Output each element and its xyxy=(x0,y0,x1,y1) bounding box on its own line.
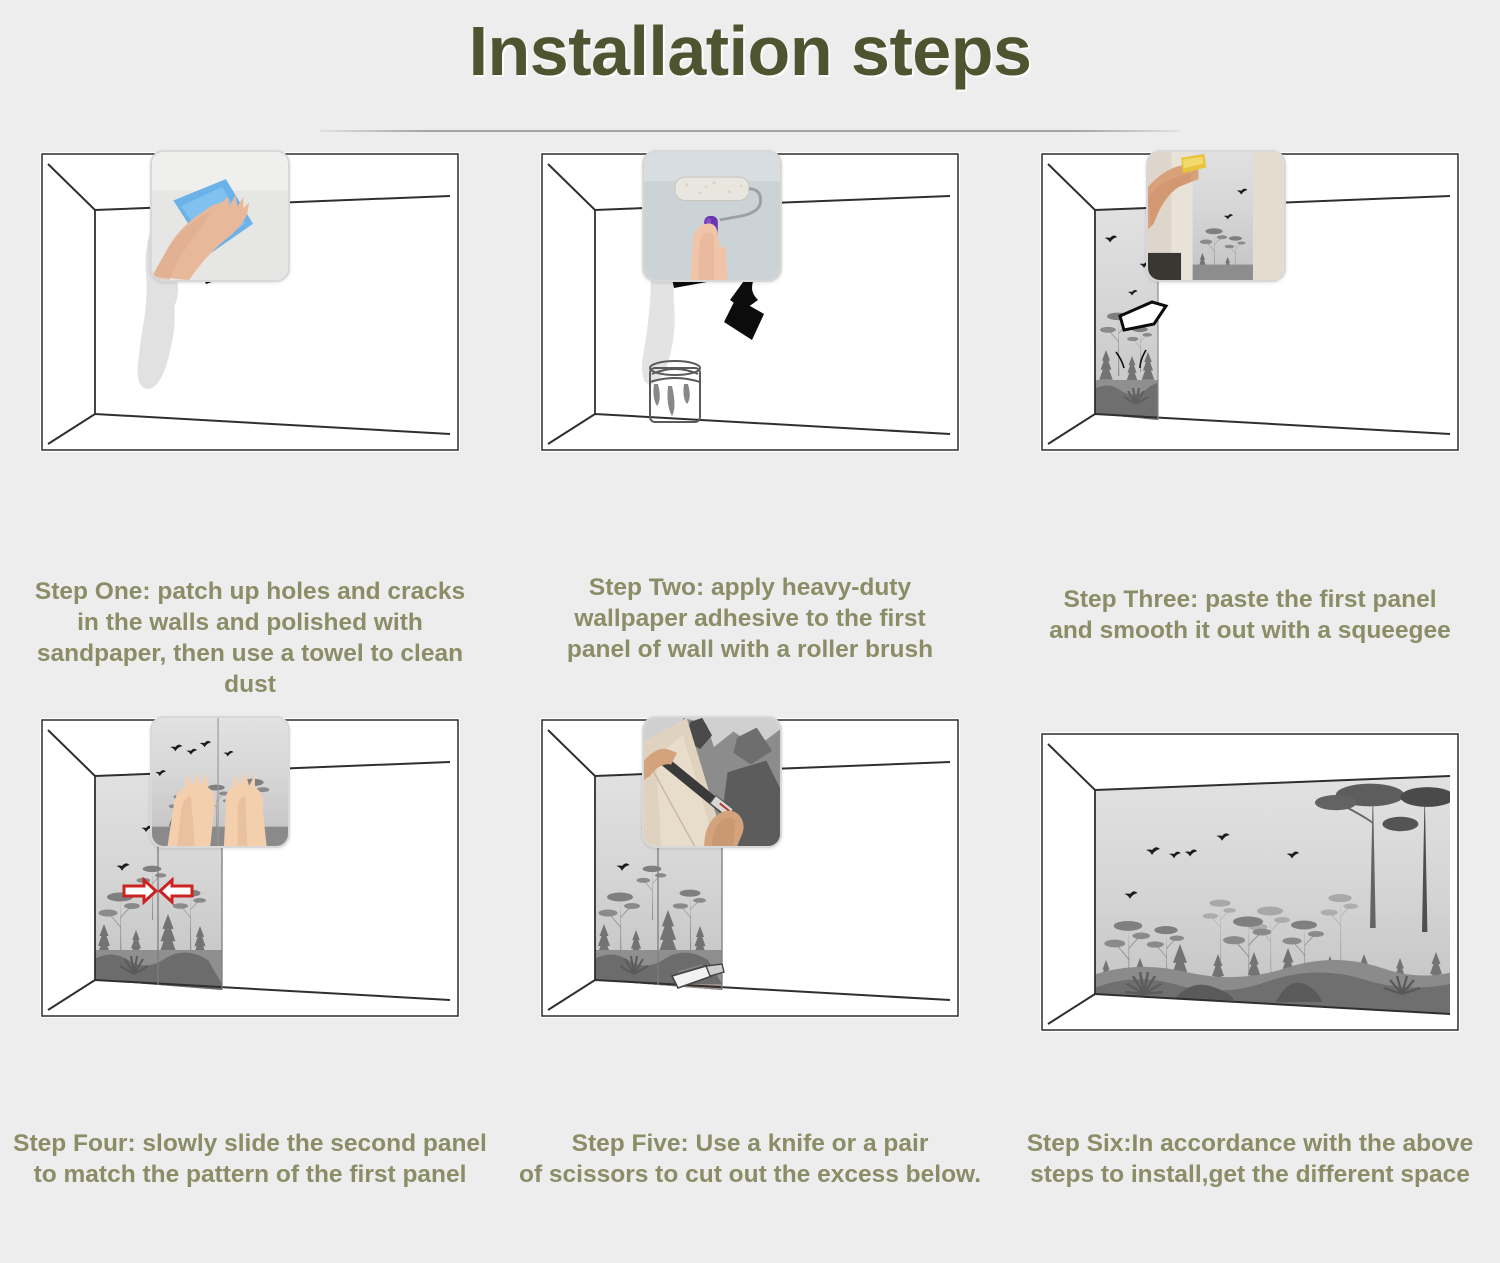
photo-paint-roller xyxy=(642,150,782,282)
caption-step-five: Step Five: Use a knife or a pair of scis… xyxy=(500,1128,1000,1190)
steps-grid: Step One: patch up holes and cracks in t… xyxy=(0,152,1500,1258)
step-card-two: Step Two: apply heavy-duty wallpaper adh… xyxy=(500,152,1000,718)
caption-step-six: Step Six:In accordance with the above st… xyxy=(1000,1128,1500,1190)
caption-line: panel of wall with a roller brush xyxy=(512,634,988,665)
step-card-three: Step Three: paste the first panel and sm… xyxy=(1000,152,1500,718)
caption-line: Step Two: apply heavy-duty xyxy=(512,572,988,603)
caption-line: Step Five: Use a knife or a pair xyxy=(512,1128,988,1159)
caption-step-one: Step One: patch up holes and cracks in t… xyxy=(0,576,500,700)
caption-line: of scissors to cut out the excess below. xyxy=(512,1159,988,1190)
step-card-four: Step Four: slowly slide the second panel… xyxy=(0,718,500,1258)
poster-header: Installation steps xyxy=(0,0,1500,132)
caption-line: wallpaper adhesive to the first xyxy=(512,603,988,634)
caption-line: Step Three: paste the first panel xyxy=(1012,584,1488,615)
caption-step-two: Step Two: apply heavy-duty wallpaper adh… xyxy=(500,572,1000,665)
title-divider xyxy=(320,130,1180,132)
photo-hands-align-panels xyxy=(150,716,290,848)
caption-step-four: Step Four: slowly slide the second panel… xyxy=(0,1128,500,1190)
step-card-five: Step Five: Use a knife or a pair of scis… xyxy=(500,718,1000,1258)
caption-line: to match the pattern of the first panel xyxy=(12,1159,488,1190)
page-title: Installation steps xyxy=(0,8,1500,96)
caption-line: steps to install,get the different space xyxy=(1012,1159,1488,1190)
caption-line: Step Four: slowly slide the second panel xyxy=(12,1128,488,1159)
caption-line: Step Six:In accordance with the above xyxy=(1012,1128,1488,1159)
step-card-one: Step One: patch up holes and cracks in t… xyxy=(0,152,500,718)
caption-line: Step One: patch up holes and cracks xyxy=(12,576,488,607)
illustration-room-complete-mural xyxy=(1000,718,1500,1110)
photo-hand-blue-cloth xyxy=(150,150,290,282)
caption-line: in the walls and polished with xyxy=(12,607,488,638)
caption-step-three: Step Three: paste the first panel and sm… xyxy=(1000,584,1500,646)
step-card-six: Step Six:In accordance with the above st… xyxy=(1000,718,1500,1258)
installation-steps-poster: Installation steps xyxy=(0,0,1500,1263)
photo-knife-cutting xyxy=(642,716,782,848)
caption-line: sandpaper, then use a towel to clean dus… xyxy=(12,638,488,700)
photo-squeegee-panel xyxy=(1146,150,1286,282)
caption-line: and smooth it out with a squeegee xyxy=(1012,615,1488,646)
